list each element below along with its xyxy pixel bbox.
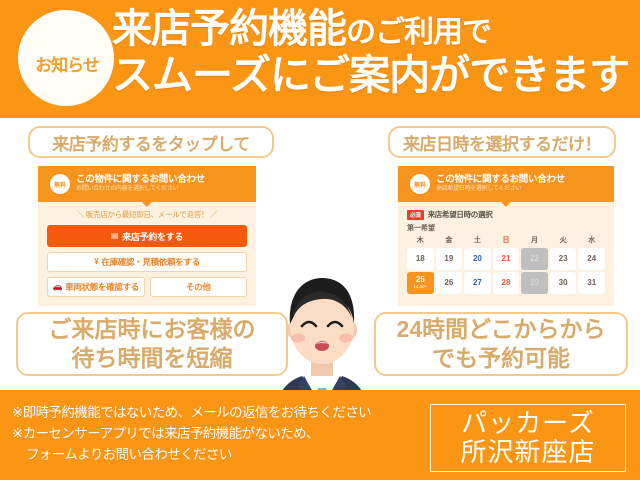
calendar-weekday: 金 <box>436 235 463 246</box>
calendar-weekday: 水 <box>578 235 605 246</box>
footer-note-1: ※即時予約機能ではないため、メールの返信をお待ちください <box>12 403 412 424</box>
stock-estimate-button[interactable]: ¥ 在庫確認・見積依頼をする <box>47 252 247 272</box>
shop-name-line1: パッカーズ <box>461 409 595 438</box>
free-badge-right: 無料 <box>410 174 430 194</box>
banner-header: お知らせ 来店予約機能のご利用で スムーズにご案内ができます <box>0 0 640 118</box>
headline-main: 来店予約機能 <box>112 7 346 51</box>
notice-badge-label: お知らせ <box>35 51 99 76</box>
mockup-right-header: 無料 この物件に関するお問い合わせ 来店希望日時を選択してください <box>398 166 614 202</box>
notice-badge: お知らせ <box>18 10 114 106</box>
footer-notes: ※即時予約機能ではないため、メールの返信をお待ちください ※カーセンサーアプリで… <box>12 403 412 466</box>
secondary-button-row: 🚗 車両状態を確認する その他 <box>47 277 247 297</box>
benefit-wait-time: ご来店時にお客様の 待ち時間を短縮 <box>16 312 288 376</box>
car-icon: 🚗 <box>53 283 63 291</box>
calendar-day-cell[interactable]: 18 <box>407 248 434 270</box>
calendar-day-number: 31 <box>587 279 596 287</box>
calendar-day-slot: 14:00~ <box>413 285 427 290</box>
calendar-weekday: 日 <box>493 235 520 246</box>
calendar-day-number: 19 <box>444 255 453 263</box>
free-badge-left: 無料 <box>50 174 70 194</box>
calendar-day-number: 24 <box>587 255 596 263</box>
reserve-visit-button[interactable]: ▤ 来店予約をする <box>47 225 247 247</box>
calendar-weekday: 月 <box>521 235 548 246</box>
calendar-day-number: 27 <box>473 279 482 287</box>
caption-select-datetime: 来店日時を選択するだけ！ <box>388 126 616 158</box>
calendar-day-cell[interactable]: 21 <box>493 248 520 270</box>
calendar-day-cell[interactable]: 31 <box>578 272 605 294</box>
mockup-right-title: この物件に関するお問い合わせ <box>436 174 565 185</box>
other-button[interactable]: その他 <box>150 277 248 297</box>
shop-name-box: パッカーズ 所沢新座店 <box>430 404 626 472</box>
calendar-section-label-row: 必須 来店希望日時の選択 <box>407 209 605 220</box>
yen-icon: ¥ <box>94 258 98 266</box>
headline-line-2: スムーズにご案内ができます <box>112 54 632 97</box>
shop-name-line2: 所沢新座店 <box>460 438 595 467</box>
mockup-left-body: ＼ 販売店から最短即日、メールで返答！ ／ ▤ 来店予約をする ¥ 在庫確認・見… <box>38 202 256 297</box>
stock-estimate-button-label: 在庫確認・見積依頼をする <box>101 256 199 268</box>
required-tag: 必須 <box>407 210 424 220</box>
mockup-left-header-texts: この物件に関するお問い合わせ お問い合わせの内容を選択してください <box>68 174 205 194</box>
calendar-weekday: 火 <box>550 235 577 246</box>
headline-group: 来店予約機能のご利用で スムーズにご案内ができます <box>112 8 632 98</box>
mockup-left-header: 無料 この物件に関するお問い合わせ お問い合わせの内容を選択してください <box>38 166 256 202</box>
benefit-24h-line2: でも予約可能 <box>432 344 570 373</box>
calendar-day-number: 26 <box>444 279 453 287</box>
benefit-wait-time-line1: ご来店時にお客様の <box>49 315 256 344</box>
calendar-day-cell: 22 <box>521 248 548 270</box>
other-button-label: その他 <box>186 281 211 293</box>
calendar-day-cell: 29 <box>521 272 548 294</box>
calendar-weekday: 土 <box>464 235 491 246</box>
reply-note: ＼ 販売店から最短即日、メールで返答！ ／ <box>47 209 247 220</box>
mockup-left-subtitle: お問い合わせの内容を選択してください <box>76 186 205 194</box>
headline-line-1: 来店予約機能のご利用で <box>112 8 632 50</box>
calendar-icon: ▤ <box>111 232 118 240</box>
first-preference-label: 第一希望 <box>407 223 605 233</box>
calendar-day-cell[interactable]: 19 <box>436 248 463 270</box>
banner-body: 来店予約するをタップして 来店日時を選択するだけ！ 無料 この物件に関するお問い… <box>0 118 640 390</box>
mockup-right-body: 必須 来店希望日時の選択 第一希望 木金土日月火水181920212223242… <box>398 202 614 294</box>
calendar-weekday: 木 <box>407 235 434 246</box>
calendar-day-number: 22 <box>530 255 539 263</box>
calendar-day-number: 25 <box>416 276 425 284</box>
calendar-day-number: 20 <box>473 255 482 263</box>
calendar-day-number: 30 <box>559 279 568 287</box>
calendar-day-cell[interactable]: 27 <box>464 272 491 294</box>
mockup-left-title: この物件に関するお問い合わせ <box>76 174 205 185</box>
caption-tap-reserve: 来店予約するをタップして <box>28 126 274 158</box>
vehicle-condition-button-label: 車両状態を確認する <box>65 281 139 293</box>
benefit-24h-line1: 24時間どこからから <box>397 315 606 344</box>
calendar-day-number: 28 <box>502 279 511 287</box>
calendar-day-cell[interactable]: 28 <box>493 272 520 294</box>
mockup-right-subtitle: 来店希望日時を選択してください <box>436 186 565 194</box>
calendar-day-number: 23 <box>559 255 568 263</box>
benefit-24h: 24時間どこからから でも予約可能 <box>374 312 628 376</box>
calendar-day-cell[interactable]: 24 <box>578 248 605 270</box>
mockup-calendar: 無料 この物件に関するお問い合わせ 来店希望日時を選択してください 必須 来店希… <box>398 166 614 306</box>
calendar-day-number: 21 <box>502 255 511 263</box>
headline-tail: のご利用で <box>346 16 491 49</box>
footer-note-2: ※カーセンサーアプリでは来店予約機能がないため、 <box>12 424 412 445</box>
benefit-wait-time-line2: 待ち時間を短縮 <box>72 344 233 373</box>
ad-banner: お知らせ 来店予約機能のご利用で スムーズにご案内ができます 来店予約するをタッ… <box>0 0 640 480</box>
footer-note-3: フォームよりお問い合わせください <box>12 445 412 466</box>
mockup-inquiry-form: 無料 この物件に関するお問い合わせ お問い合わせの内容を選択してください ＼ 販… <box>38 166 256 306</box>
calendar-day-cell[interactable]: 26 <box>436 272 463 294</box>
reserve-visit-button-label: 来店予約をする <box>122 230 183 243</box>
mockup-right-header-texts: この物件に関するお問い合わせ 来店希望日時を選択してください <box>428 174 565 194</box>
calendar-day-number: 18 <box>416 255 425 263</box>
calendar-day-cell[interactable]: 30 <box>550 272 577 294</box>
calendar-section-label: 来店希望日時の選択 <box>428 209 493 220</box>
vehicle-condition-button[interactable]: 🚗 車両状態を確認する <box>47 277 145 297</box>
calendar-day-cell[interactable]: 23 <box>550 248 577 270</box>
calendar-grid[interactable]: 木金土日月火水181920212223242514:00~26272829303… <box>407 235 605 294</box>
calendar-day-number: 29 <box>530 279 539 287</box>
calendar-day-cell[interactable]: 2514:00~ <box>407 272 434 294</box>
calendar-day-cell[interactable]: 20 <box>464 248 491 270</box>
